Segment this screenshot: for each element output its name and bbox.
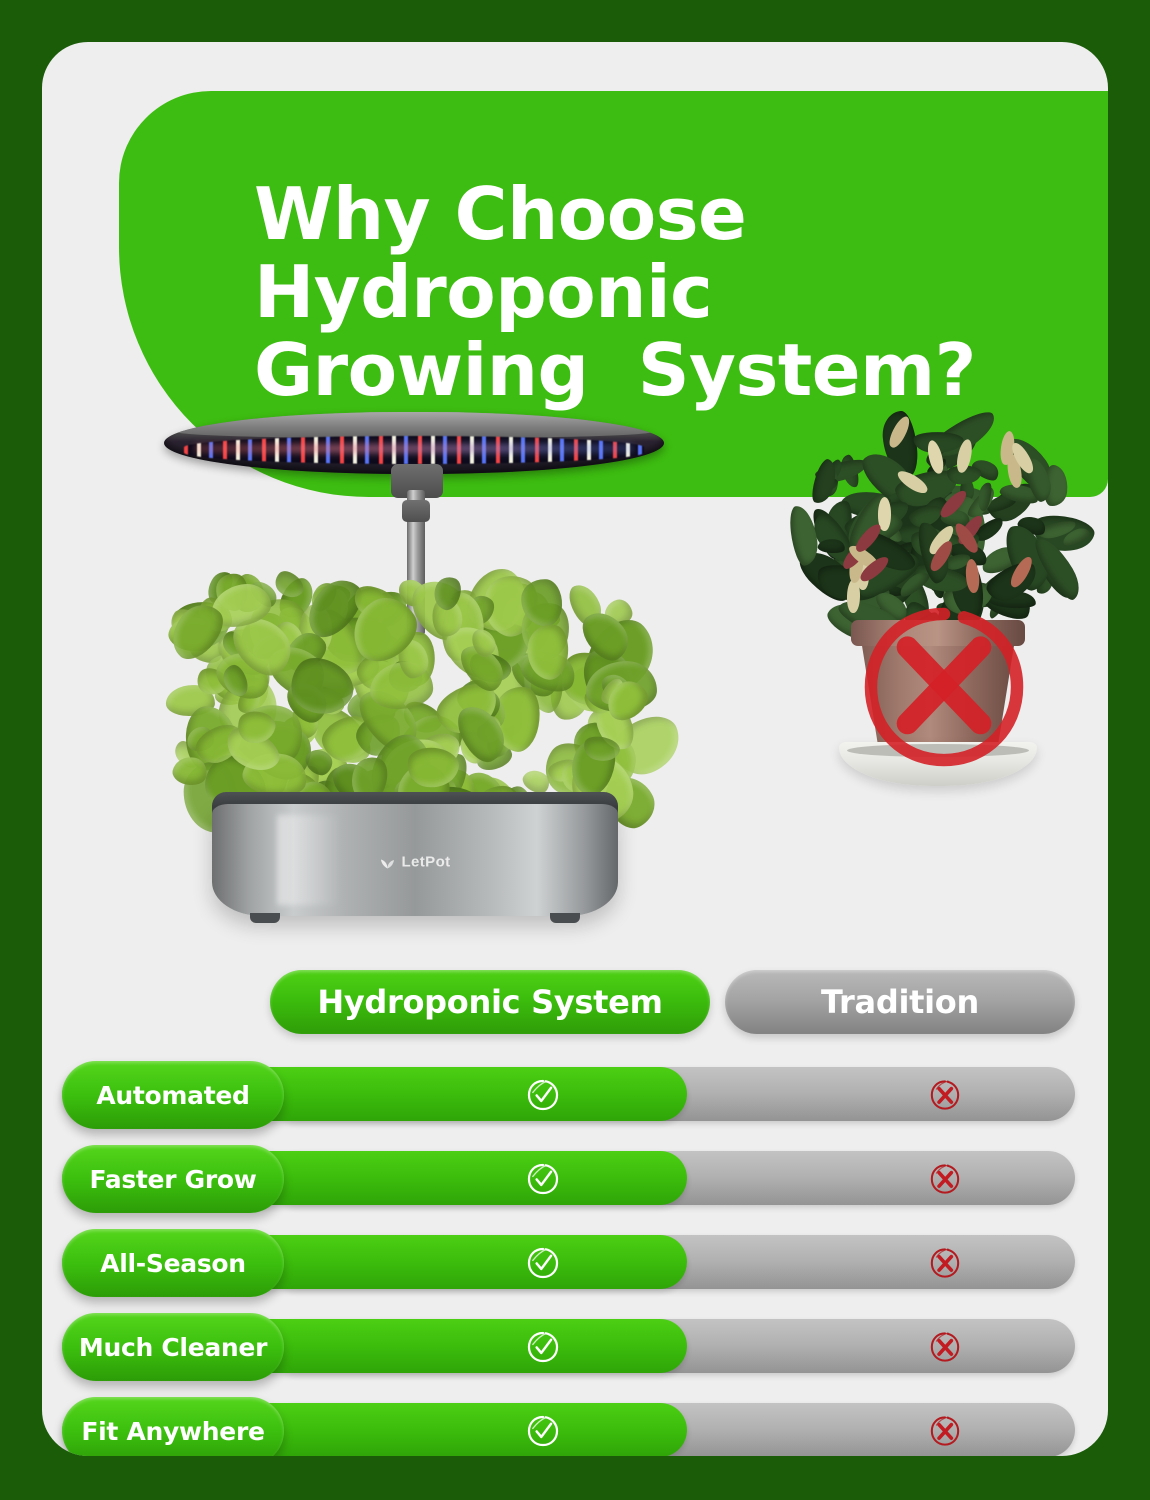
- circle-cross-icon: [928, 1414, 962, 1448]
- feature-label-text: Faster Grow: [89, 1165, 256, 1194]
- column-header-tradition: Tradition: [725, 970, 1075, 1034]
- hydroponic-system-image: LetPot: [154, 372, 674, 932]
- stainless-base: LetPot: [212, 804, 618, 916]
- table-row: Faster Grow: [42, 1149, 1108, 1209]
- column-header-hydroponic-label: Hydroponic System: [317, 983, 662, 1021]
- table-row: Fit Anywhere: [42, 1401, 1108, 1456]
- feature-label-text: Automated: [96, 1081, 249, 1110]
- product-photo-stage: LetPot: [42, 372, 1108, 942]
- feature-label-text: All-Season: [100, 1249, 246, 1278]
- column-header-hydroponic: Hydroponic System: [270, 970, 710, 1034]
- circle-cross-icon: [928, 1330, 962, 1364]
- infographic-card: Why Choose Hydroponic Growing System?: [42, 42, 1108, 1456]
- circle-cross-icon: [928, 1246, 962, 1280]
- feature-label-faster-grow: Faster Grow: [62, 1145, 284, 1213]
- feature-label-much-cleaner: Much Cleaner: [62, 1313, 284, 1381]
- circle-check-icon: [526, 1330, 560, 1364]
- circle-cross-icon: [928, 1162, 962, 1196]
- circle-check-icon: [526, 1162, 560, 1196]
- comparison-table: Hydroponic System Tradition Automated Fa…: [42, 927, 1108, 1447]
- brand-logo: LetPot: [379, 854, 450, 871]
- feature-label-text: Much Cleaner: [79, 1333, 267, 1362]
- column-header-tradition-label: Tradition: [821, 983, 979, 1021]
- feature-label-fit-anywhere: Fit Anywhere: [62, 1397, 284, 1456]
- table-row: Automated: [42, 1065, 1108, 1125]
- traditional-plant-image: [787, 382, 1087, 922]
- brand-name: LetPot: [401, 854, 450, 871]
- circle-cross-icon: [928, 1078, 962, 1112]
- table-row: All-Season: [42, 1233, 1108, 1293]
- circle-check-icon: [526, 1246, 560, 1280]
- red-x-cross-icon: [861, 604, 1027, 770]
- feature-label-text: Fit Anywhere: [81, 1417, 264, 1446]
- feature-label-all-season: All-Season: [62, 1229, 284, 1297]
- table-row: Much Cleaner: [42, 1317, 1108, 1377]
- circle-check-icon: [526, 1414, 560, 1448]
- pole-joint: [402, 500, 430, 522]
- sprout-leaf-icon: [379, 854, 395, 870]
- feature-label-automated: Automated: [62, 1061, 284, 1129]
- circle-check-icon: [526, 1078, 560, 1112]
